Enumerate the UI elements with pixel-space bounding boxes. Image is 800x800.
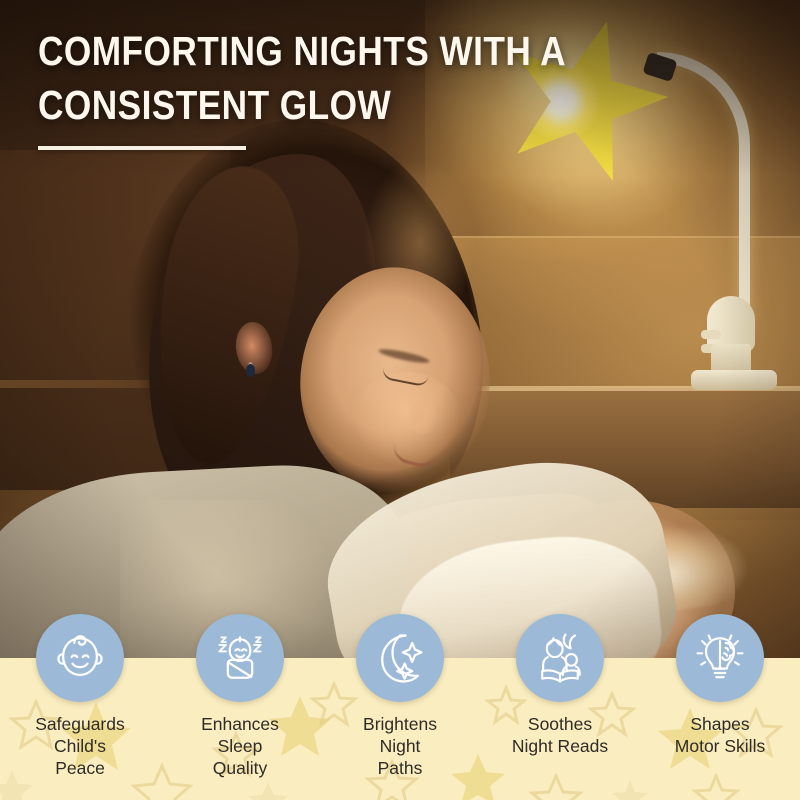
headline-underline [38,146,246,150]
headline-line-2: CONSISTENT GLOW [38,78,485,132]
parent-child-reading-icon [516,614,604,702]
clamp-base [691,370,777,390]
feature-item-3[interactable]: Brightens Night Paths [320,614,480,779]
baby-face-icon [36,614,124,702]
feature-item-1[interactable]: Safeguards Child's Peace [0,614,160,779]
earring [246,364,255,377]
feature-item-4[interactable]: Soothes Night Reads [480,614,640,757]
feature-item-5[interactable]: Shapes Motor Skills [640,614,800,757]
feature-label-1: Safeguards Child's Peace [0,713,160,779]
feature-label-4: Soothes Night Reads [480,713,640,757]
headline-line-1: COMFORTING NIGHTS WITH A [38,24,485,78]
feature-item-2[interactable]: Enhances Sleep Quality [160,614,320,779]
lightbulb-brain-icon [676,614,764,702]
swaddled-baby-sleeping-icon [196,614,284,702]
feature-list: Safeguards Child's Peace [0,600,800,800]
page-title: COMFORTING NIGHTS WITH A CONSISTENT GLOW [38,24,558,132]
clamp-jaw-upper [701,330,721,339]
promo-image: COMFORTING NIGHTS WITH A CONSISTENT GLOW [0,0,800,800]
feature-label-5: Shapes Motor Skills [640,713,800,757]
feature-label-2: Enhances Sleep Quality [160,713,320,779]
crescent-moon-stars-icon [356,614,444,702]
feature-label-3: Brightens Night Paths [320,713,480,779]
